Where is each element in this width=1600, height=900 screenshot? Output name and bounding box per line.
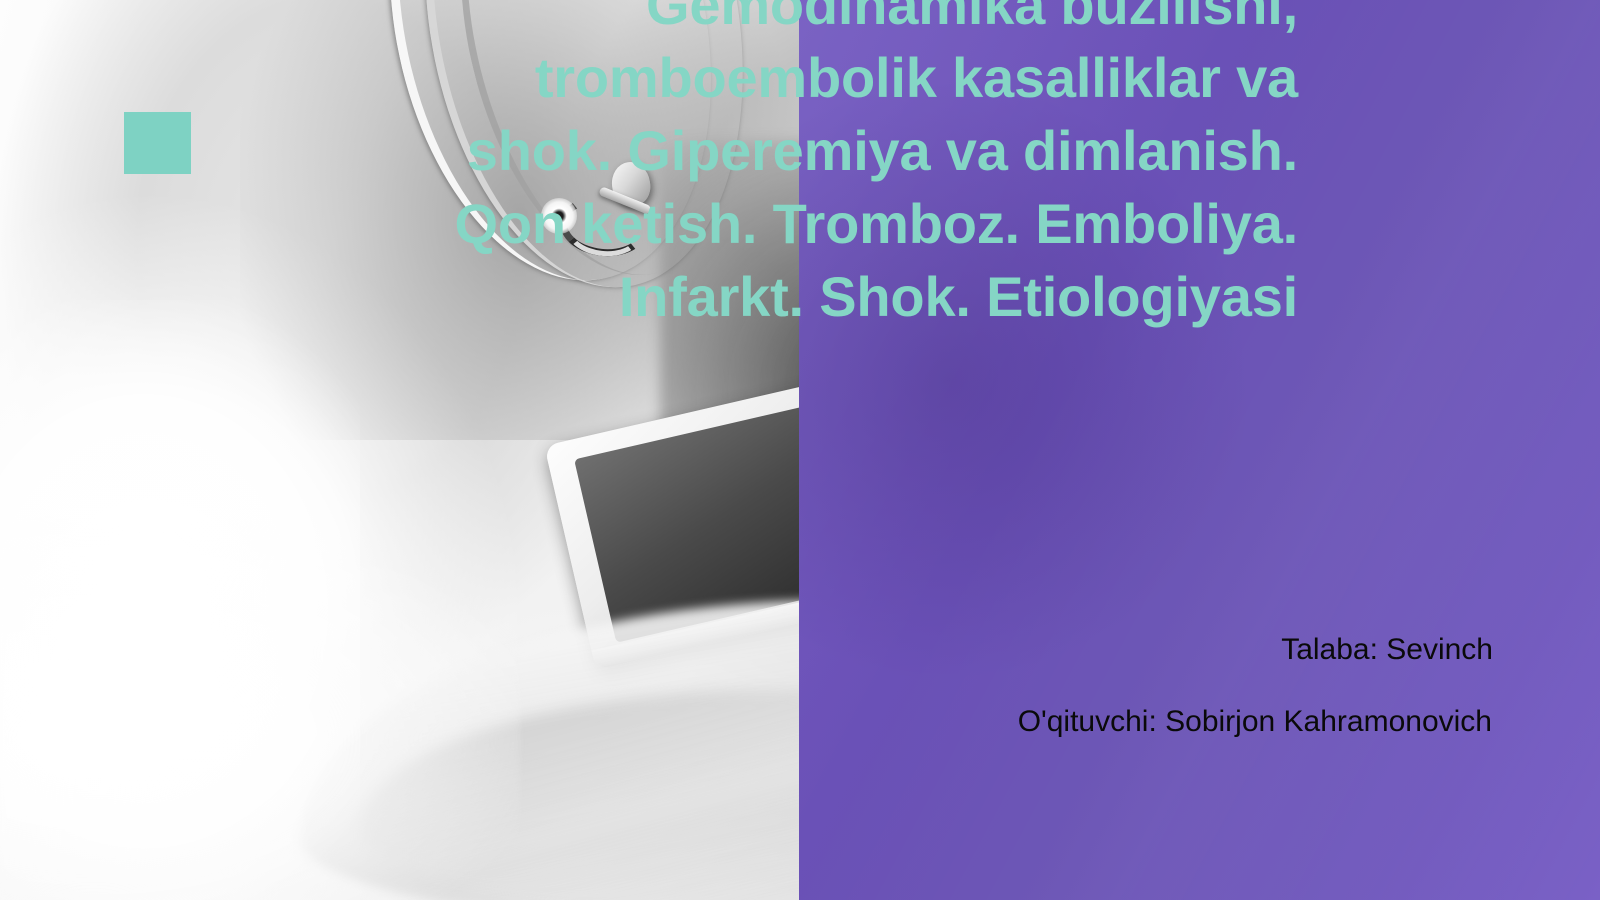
credit-student: Talaba: Sevinch <box>1281 631 1493 669</box>
photo-left-glow <box>0 300 360 900</box>
title-slide: Gemodinamika buzilishi, tromboembolik ka… <box>0 0 1600 900</box>
teal-accent-square <box>124 112 191 174</box>
credit-teacher: O'qituvchi: Sobirjon Kahramonovich <box>1018 703 1492 741</box>
slide-title: Gemodinamika buzilishi, tromboembolik ka… <box>440 0 1298 333</box>
